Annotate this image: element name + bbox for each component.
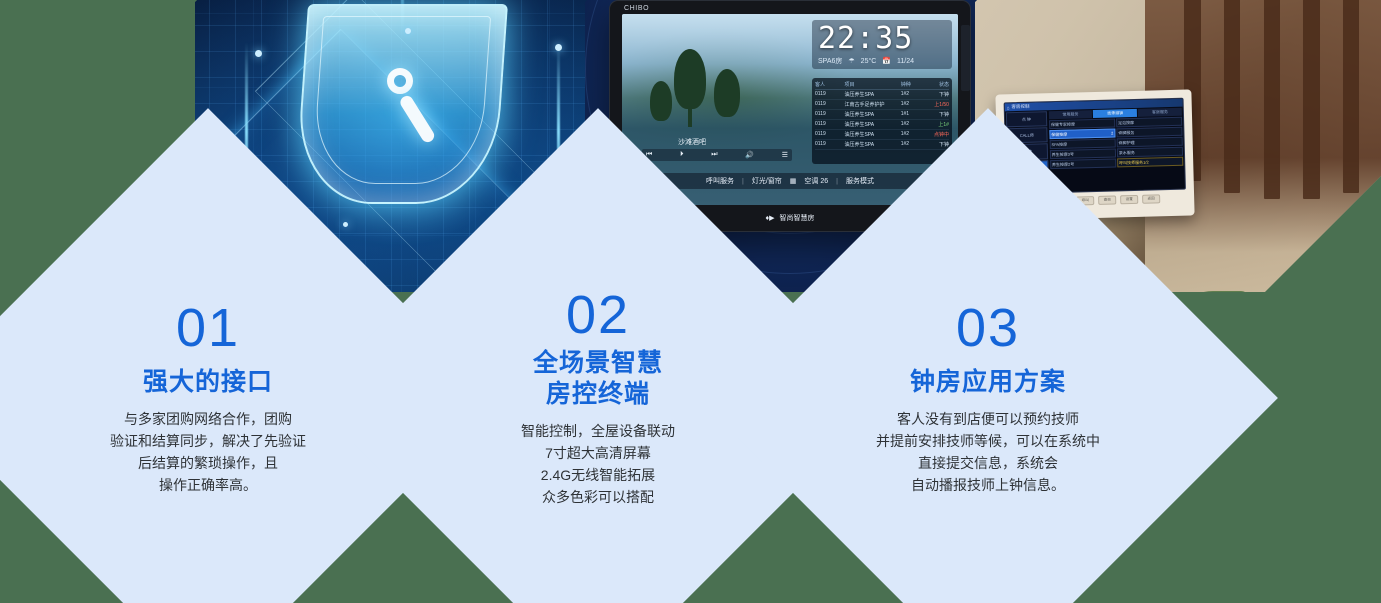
cell-item: 油压养生SPA	[844, 121, 900, 128]
list-item[interactable]: 保健专家按摩	[1049, 118, 1115, 129]
clock-date: 11/24	[897, 58, 914, 65]
feature-title-03: 钟房应用方案	[910, 367, 1066, 398]
cell-guest: 0119	[815, 141, 844, 148]
list-item-label: 保健专家按摩	[1051, 121, 1075, 128]
divider: |	[742, 178, 744, 185]
clock-room: SPA6房	[818, 56, 842, 66]
description-line: 7寸超大高清屏幕	[521, 442, 675, 464]
feature-diamond-board: holographic-shield-lock-on-circuit-board…	[0, 0, 1381, 603]
title-line: 房控终端	[533, 379, 663, 410]
tree-shape	[650, 81, 672, 121]
cell-type: 1#2	[901, 141, 922, 148]
cell-item: 油压养生SPA	[844, 111, 900, 118]
cell-type: 1#2	[901, 131, 922, 138]
media-title: 沙滩酒吧	[678, 137, 706, 147]
calendar-icon: 📅	[882, 57, 891, 65]
title-line: 全场景智慧	[533, 348, 663, 379]
tab-technician-schedule[interactable]: 技师排钟	[1093, 109, 1137, 118]
feature-description-01: 与多家团购网络合作，团购 验证和结算同步，解决了先验证 后结算的繁琐操作，且 操…	[110, 408, 306, 496]
description-line: 众多色彩可以搭配	[521, 486, 675, 508]
list-item[interactable]: 茶水服务	[1117, 147, 1183, 158]
list-item[interactable]: 修脚护理	[1116, 137, 1182, 148]
wall-panel-header-label: 客房控制	[1011, 104, 1029, 110]
list-item[interactable]: 足浴按摩	[1116, 117, 1182, 128]
description-line: 2.4G无线智能拓展	[521, 464, 675, 486]
col-header-guest: 客人	[815, 81, 844, 88]
list-item-label: 茶水服务	[1119, 149, 1135, 155]
media-player-bar[interactable]: ⏮ ⏵ ⏭ 🔊 ☰	[642, 149, 792, 161]
list-item-label: 养生按摩2号	[1052, 161, 1074, 168]
cell-guest: 0119	[815, 121, 844, 128]
lock-icon	[387, 68, 413, 94]
spark-dot	[405, 28, 411, 34]
feature-description-03: 客人没有到店便可以预约技师 并提前安排技师等候，可以在系统中 直接提交信息，系统…	[876, 408, 1100, 496]
cell-guest: 0119	[815, 131, 844, 138]
cell-guest: 0119	[815, 91, 844, 98]
tab-room-service[interactable]: 客房服务	[1138, 108, 1182, 117]
list-item-label: 足浴按摩	[1118, 119, 1134, 125]
thermometer-icon: ☂	[848, 57, 854, 65]
tab-common-service[interactable]: 常用服务	[1049, 110, 1093, 119]
description-line: 自动播报技师上钟信息。	[876, 474, 1100, 496]
home-icon: ⌂	[1007, 105, 1010, 110]
wall-panel-column-2[interactable]: 足浴按摩 修脚服务 修脚护理 茶水服务 呼叫技师服务1/2	[1116, 117, 1184, 190]
list-item-label: 修脚护理	[1118, 139, 1134, 145]
list-item[interactable]: 保健按摩2	[1049, 128, 1115, 139]
feature-number-03: 03	[956, 301, 1020, 355]
description-line: 与多家团购网络合作，团购	[110, 408, 306, 430]
key-query[interactable]: 查询	[1098, 195, 1116, 204]
feature-number-01: 01	[176, 301, 240, 355]
play-icon[interactable]: ⏵	[680, 151, 684, 159]
description-line: 后结算的繁琐操作，且	[110, 452, 306, 474]
button-service-mode[interactable]: 服务模式	[846, 176, 874, 186]
tree-shape	[674, 49, 706, 109]
divider: |	[836, 178, 838, 185]
list-item-count: 2	[1111, 130, 1113, 136]
plant-leaf	[1178, 291, 1248, 292]
table-row[interactable]: 0119 油压养生SPA 1#2 下钟	[815, 140, 949, 150]
cell-item: 江南古手足养护护	[844, 101, 900, 108]
cell-guest: 0119	[815, 111, 844, 118]
table-row[interactable]: 0119 油压养生SPA 1#2 点钟中	[815, 130, 949, 140]
cell-type: 1#2	[901, 121, 922, 128]
feature-description-02: 智能控制，全屋设备联动 7寸超大高清屏幕 2.4G无线智能拓展 众多色彩可以搭配	[521, 420, 675, 508]
cell-item: 油压养生SPA	[844, 91, 900, 98]
wood-slat	[1343, 0, 1360, 193]
list-item-label: 养生按摩3号	[1052, 151, 1074, 158]
cell-item: 油压养生SPA	[844, 141, 900, 148]
list-item-label: 呼叫技师服务1/2	[1119, 159, 1149, 166]
wood-slat	[1224, 0, 1241, 193]
clock-temperature: 25°C	[861, 57, 877, 64]
next-icon[interactable]: ⏭	[711, 151, 717, 159]
playlist-icon[interactable]: ☰	[782, 151, 788, 159]
feature-title-02: 全场景智慧 房控终端	[533, 348, 663, 410]
description-line: 验证和结算同步，解决了先验证	[110, 430, 306, 452]
description-line: 操作正确率高。	[110, 474, 306, 496]
spark-dot	[343, 222, 348, 227]
wood-slat	[1264, 0, 1281, 199]
tablet-screen[interactable]: 22:35 SPA6房 ☂ 25°C 📅 11/24 客人	[622, 14, 958, 205]
list-item-label: SPA按摩	[1051, 141, 1067, 147]
cell-item: 油压养生SPA	[844, 131, 900, 138]
feature-title-01: 强大的接口	[143, 367, 273, 398]
list-item[interactable]: 养生按摩2号	[1050, 158, 1116, 169]
tablet-brand-label: CHIBO	[624, 5, 649, 12]
description-line: 并提前安排技师等候，可以在系统中	[876, 430, 1100, 452]
list-item-label: 修脚服务	[1118, 129, 1134, 135]
tree-shape	[714, 69, 740, 117]
wood-slat	[1303, 0, 1320, 199]
description-line: 客人没有到店便可以预约技师	[876, 408, 1100, 430]
list-item[interactable]: SPA按摩	[1049, 138, 1115, 149]
cell-guest: 0119	[815, 101, 844, 108]
volume-icon[interactable]: 🔊	[745, 151, 754, 159]
list-item-label: 保健按摩	[1051, 131, 1067, 137]
button-air-conditioner[interactable]: 空调 26	[804, 176, 828, 186]
list-item[interactable]: 养生按摩3号	[1050, 148, 1116, 159]
description-line: 直接提交信息，系统会	[876, 452, 1100, 474]
spark-dot	[255, 50, 262, 57]
button-light-curtain[interactable]: 灯光/窗帘	[752, 176, 782, 186]
key-back[interactable]: 返回	[1142, 194, 1160, 203]
logo-icon: ♦▶	[766, 214, 775, 222]
footer-brand-label: 智尚智慧房	[779, 213, 814, 223]
list-item[interactable]: 修脚服务	[1116, 127, 1182, 138]
button-call-service[interactable]: 呼叫服务	[706, 176, 734, 186]
list-item[interactable]: 呼叫技师服务1/2	[1117, 157, 1183, 168]
key-settings[interactable]: 设置	[1120, 195, 1138, 204]
description-line: 智能控制，全屋设备联动	[521, 420, 675, 442]
side-button-0[interactable]: 点 钟	[1006, 111, 1047, 127]
feature-number-02: 02	[566, 288, 630, 342]
apps-grid-icon[interactable]: ▦	[790, 177, 797, 185]
